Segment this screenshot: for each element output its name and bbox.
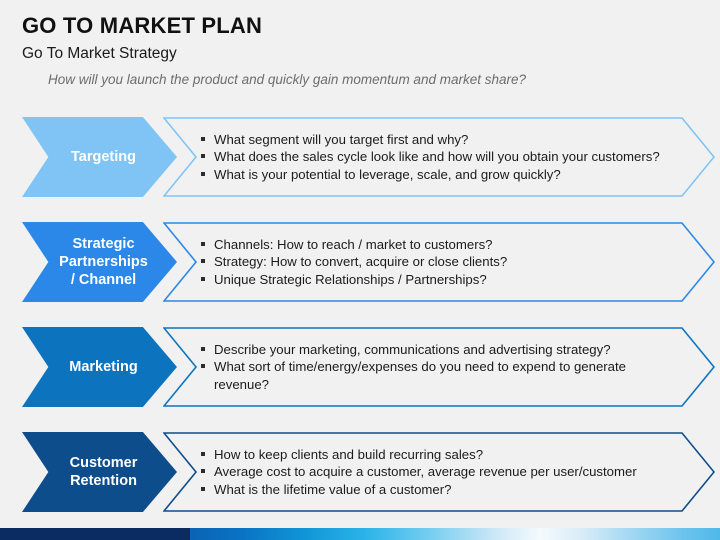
chevron-label-text: Customer Retention xyxy=(70,454,138,490)
bullet-item: What does the sales cycle look like and … xyxy=(201,148,669,165)
bullet-item: Unique Strategic Relationships / Partner… xyxy=(201,271,669,288)
bullet-item: Channels: How to reach / market to custo… xyxy=(201,236,669,253)
gtm-row-marketing: MarketingDescribe your marketing, commun… xyxy=(0,323,720,411)
chevron-label-customer-retention[interactable]: Customer Retention xyxy=(22,432,177,512)
chevron-body-strategic-partnerships-channel[interactable]: Channels: How to reach / market to custo… xyxy=(163,222,715,302)
page-subtitle: Go To Market Strategy xyxy=(22,45,720,62)
gtm-row-list: TargetingWhat segment will you target fi… xyxy=(0,113,720,533)
bullet-item: Describe your marketing, communications … xyxy=(201,341,669,358)
bullet-item: What sort of time/energy/expenses do you… xyxy=(201,358,669,393)
gtm-row-targeting: TargetingWhat segment will you target fi… xyxy=(0,113,720,201)
chevron-body-marketing[interactable]: Describe your marketing, communications … xyxy=(163,327,715,407)
bottom-bar-gradient-segment xyxy=(190,528,720,540)
bottom-bar-dark-segment xyxy=(0,528,190,540)
bullet-list: What segment will you target first and w… xyxy=(201,117,669,197)
page-tagline: How will you launch the product and quic… xyxy=(48,73,720,88)
bullet-item: What is your potential to leverage, scal… xyxy=(201,166,669,183)
bottom-accent-bar xyxy=(0,528,720,540)
chevron-body-customer-retention[interactable]: How to keep clients and build recurring … xyxy=(163,432,715,512)
bullet-item: How to keep clients and build recurring … xyxy=(201,446,669,463)
bullet-item: What is the lifetime value of a customer… xyxy=(201,481,669,498)
chevron-body-targeting[interactable]: What segment will you target first and w… xyxy=(163,117,715,197)
chevron-label-strategic-partnerships-channel[interactable]: Strategic Partnerships / Channel xyxy=(22,222,177,302)
bullet-list: Channels: How to reach / market to custo… xyxy=(201,222,669,302)
slide-header: GO TO MARKET PLAN Go To Market Strategy … xyxy=(0,0,720,88)
chevron-label-targeting[interactable]: Targeting xyxy=(22,117,177,197)
bullet-list: How to keep clients and build recurring … xyxy=(201,432,669,512)
page-title: GO TO MARKET PLAN xyxy=(22,14,720,38)
chevron-label-text: Strategic Partnerships / Channel xyxy=(59,235,148,289)
bullet-list: Describe your marketing, communications … xyxy=(201,327,669,407)
chevron-label-text: Marketing xyxy=(69,358,138,376)
gtm-row-customer-retention: Customer RetentionHow to keep clients an… xyxy=(0,428,720,516)
chevron-label-text: Targeting xyxy=(71,148,136,166)
chevron-label-marketing[interactable]: Marketing xyxy=(22,327,177,407)
bullet-item: Strategy: How to convert, acquire or clo… xyxy=(201,253,669,270)
gtm-row-strategic-partnerships-channel: Strategic Partnerships / ChannelChannels… xyxy=(0,218,720,306)
bullet-item: Average cost to acquire a customer, aver… xyxy=(201,463,669,480)
bullet-item: What segment will you target first and w… xyxy=(201,131,669,148)
